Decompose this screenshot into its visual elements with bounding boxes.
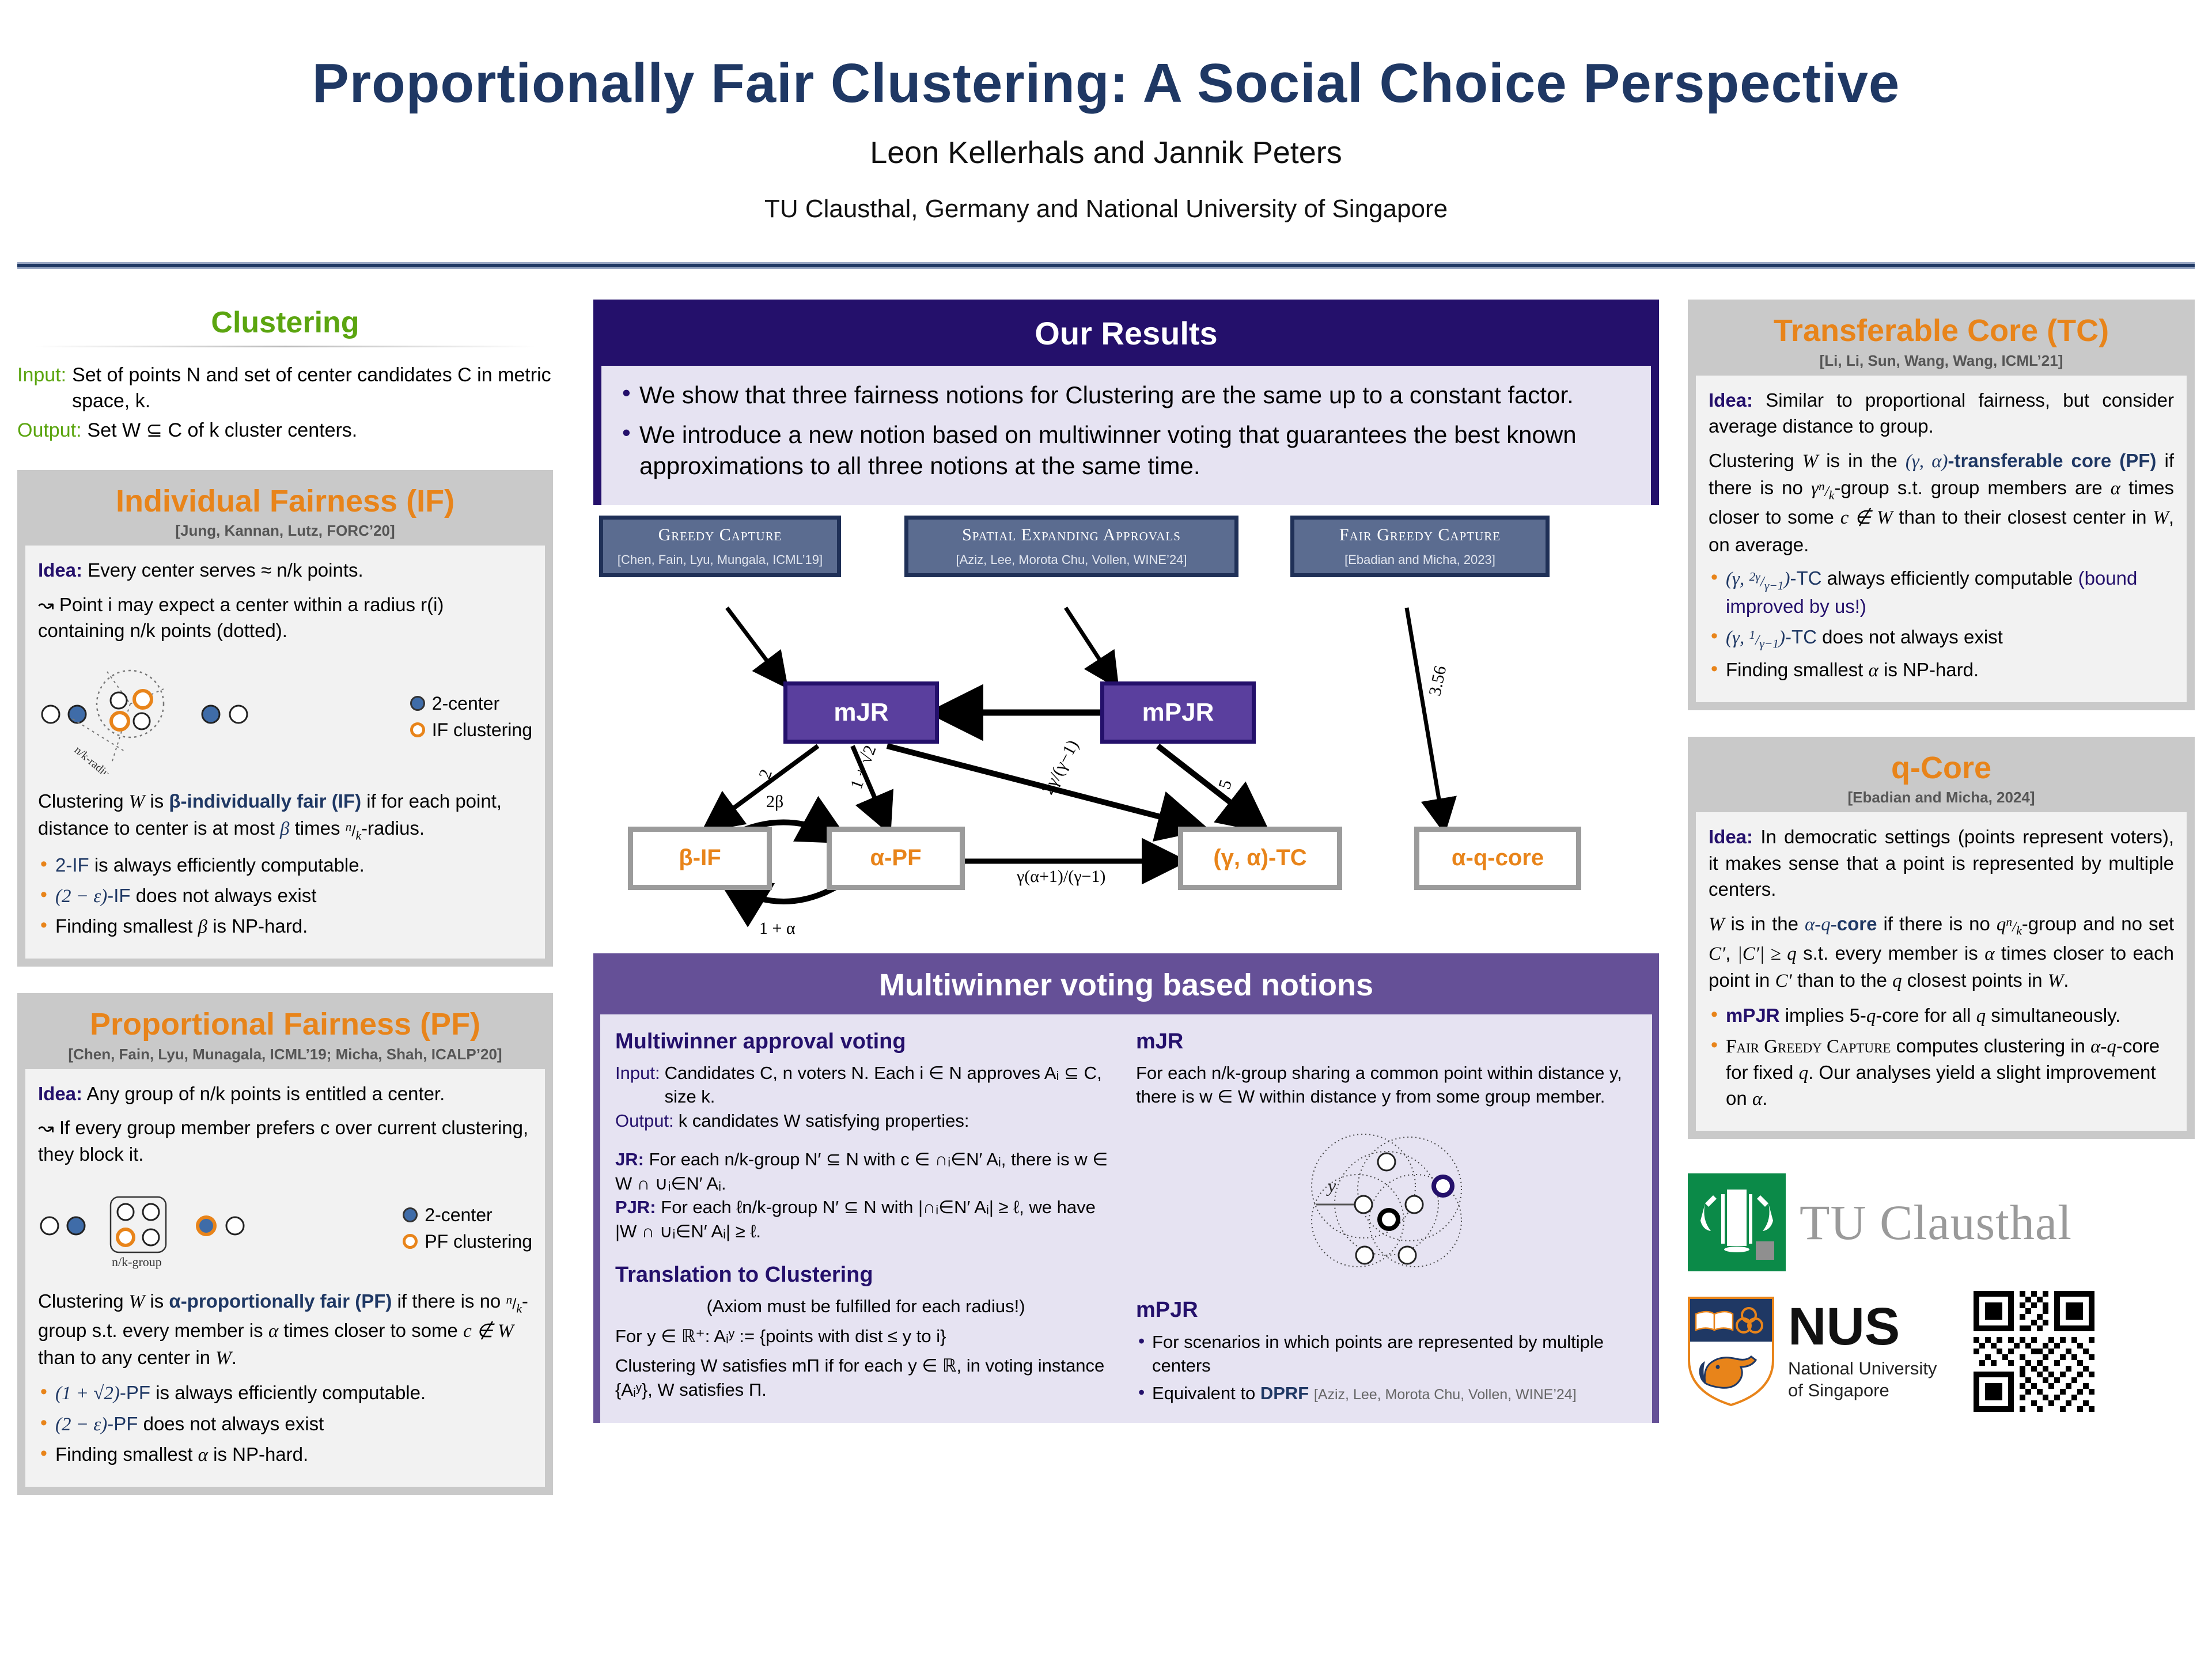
list-item: (1 + √2)-PF is always efficiently comput…	[38, 1380, 532, 1407]
relations-diagram: Greedy Capture [Chen, Fain, Lyu, Mungala…	[593, 516, 1659, 942]
jr-label: JR:	[615, 1149, 644, 1169]
clustering-output-row: Output: Set W ⊆ C of k cluster centers.	[17, 418, 553, 444]
clustering-section: Clustering Input: Set of points N and se…	[17, 300, 553, 444]
pf-citation: [Chen, Fain, Lyu, Munagala, ICML’19; Mic…	[29, 1041, 541, 1063]
nus-line1: National University	[1788, 1358, 1937, 1379]
if-title: Individual Fairness (IF)	[29, 485, 541, 518]
results-body: We show that three fairness notions for …	[601, 366, 1651, 505]
input-value: Set of points N and set of center candid…	[72, 362, 553, 414]
right-column: Transferable Core (TC) [Li, Li, Sun, Wan…	[1688, 300, 2195, 1431]
clustering-title: Clustering	[17, 300, 553, 343]
multiwinner-panel: Multiwinner voting based notions Multiwi…	[593, 953, 1659, 1423]
pf-definition: Clustering W is α-proportionally fair (P…	[38, 1288, 532, 1372]
tc-bullets: (γ, 2γ/γ−1)-TC always efficiently comput…	[1709, 566, 2174, 683]
algorithm-name: Greedy Capture	[610, 525, 830, 544]
if-idea-label: Idea:	[38, 559, 82, 581]
list-item: Fair Greedy Capture computes clustering …	[1709, 1033, 2174, 1112]
if-legend: 2-center IF clustering	[410, 690, 532, 744]
our-results-panel: Our Results We show that three fairness …	[593, 300, 1659, 505]
list-item: We show that three fairness notions for …	[618, 380, 1635, 411]
nus-shield-icon	[1688, 1297, 1774, 1406]
nus-logo: NUS National University of Singapore	[1688, 1291, 2195, 1412]
mjr-distance-label: y	[1326, 1175, 1336, 1196]
node-alpha-q-core: α-q-core	[1414, 827, 1581, 890]
edge-label-pf-to-if: 1 + α	[759, 919, 796, 938]
left-column: Clustering Input: Set of points N and se…	[17, 300, 553, 1495]
jr-text: For each n/k-group N′ ⊆ N with c ∈ ∩ᵢ∈N′…	[615, 1149, 1108, 1194]
tc-card-header: Transferable Core (TC) [Li, Li, Sun, Wan…	[1696, 308, 2187, 376]
if-idea-line2: ↝ Point i may expect a center within a r…	[38, 592, 532, 644]
translation-note: (Axiom must be fulfilled for each radius…	[615, 1294, 1116, 1319]
qcore-idea-text: In democratic settings (points represent…	[1709, 826, 2174, 900]
node-gamma-alpha-tc: (γ, α)-TC	[1178, 827, 1342, 890]
mjr-text: For each n/k-group sharing a common poin…	[1136, 1061, 1637, 1109]
mpjr-heading: mPJR	[1136, 1296, 1637, 1325]
clustering-divider	[35, 346, 536, 347]
qr-code-icon[interactable]	[1974, 1291, 2094, 1412]
list-item: Equivalent to DPRF [Aziz, Lee, Morota Ch…	[1136, 1382, 1637, 1406]
tc-idea-label: Idea:	[1709, 389, 1753, 411]
output-label: Output:	[17, 418, 88, 444]
pf-bullets: (1 + √2)-PF is always efficiently comput…	[38, 1380, 532, 1468]
input-label: Input:	[17, 362, 72, 414]
list-item: For scenarios in which points are repres…	[1136, 1331, 1637, 1378]
pjr-text: For each ℓn/k-group N′ ⊆ N with |∩ᵢ∈N′ A…	[615, 1197, 1096, 1241]
approval-input-row: Input: Candidates C, n voters N. Each i …	[615, 1061, 1116, 1109]
dprf-label: DPRF	[1260, 1383, 1309, 1403]
nus-line2: of Singapore	[1788, 1380, 1937, 1401]
if-radius-label: n/k-radius	[72, 744, 116, 774]
pf-legend: 2-center PF clustering	[403, 1202, 532, 1255]
clustering-input-row: Input: Set of points N and set of center…	[17, 362, 553, 414]
tu-clausthal-crest-icon	[1688, 1173, 1786, 1271]
pf-figure-row: n/k-group 2-center PF clustering	[38, 1182, 532, 1274]
orange-ring-icon	[410, 722, 425, 737]
if-card-body: Idea: Every center serves ≈ n/k points. …	[25, 546, 545, 959]
legend-item-if: IF clustering	[410, 717, 532, 743]
pf-idea: Idea: Any group of n/k points is entitle…	[38, 1081, 532, 1107]
pf-idea-text: Any group of n/k points is entitled a ce…	[86, 1083, 445, 1104]
if-idea: Idea: Every center serves ≈ n/k points.	[38, 557, 532, 584]
header-divider	[17, 262, 2195, 269]
if-citation: [Jung, Kannan, Lutz, FORC’20]	[29, 517, 541, 540]
orange-ring-icon	[403, 1234, 418, 1249]
if-definition: Clustering W is β-individually fair (IF)…	[38, 788, 532, 844]
tu-clausthal-logo: TU Clausthal	[1688, 1173, 2195, 1271]
translation-heading: Translation to Clustering	[615, 1260, 1116, 1290]
legend-label-1: PF clustering	[425, 1228, 532, 1255]
algorithm-citation: [Ebadian and Micha, 2023]	[1301, 544, 1539, 567]
affiliation: TU Clausthal, Germany and National Unive…	[0, 171, 2212, 224]
pf-group-label: n/k-group	[112, 1255, 162, 1269]
multiwinner-body: Multiwinner approval voting Input: Candi…	[600, 1014, 1652, 1423]
node-alpha-pf: α-PF	[827, 827, 965, 890]
qcore-idea: Idea: In democratic settings (points rep…	[1709, 824, 2174, 903]
pf-idea-line2: ↝ If every group member prefers c over c…	[38, 1115, 532, 1167]
pf-title: Proportional Fairness (PF)	[29, 1008, 541, 1041]
pf-card-body: Idea: Any group of n/k points is entitle…	[25, 1069, 545, 1487]
node-mpjr: mPJR	[1100, 681, 1256, 744]
if-bullets: 2-IF is always efficiently computable. (…	[38, 853, 532, 940]
mjr-figure-wrap: y	[1136, 1117, 1637, 1290]
legend-item-2center: 2-center	[410, 690, 532, 717]
page-title: Proportionally Fair Clustering: A Social…	[0, 0, 2212, 113]
legend-item-pf: PF clustering	[403, 1228, 532, 1255]
output-value: Set W ⊆ C of k cluster centers.	[88, 418, 553, 444]
list-item: Finding smallest α is NP-hard.	[38, 1442, 532, 1468]
qcore-citation: [Ebadian and Micha, 2024]	[1699, 784, 2183, 806]
if-idea-text: Every center serves ≈ n/k points.	[88, 559, 363, 581]
tc-idea: Idea: Similar to proportional fairness, …	[1709, 387, 2174, 440]
nus-acronym: NUS	[1788, 1302, 1937, 1352]
qcore-definition: W is in the α-q-core if there is no qn/k…	[1709, 911, 2174, 995]
proportional-fairness-card: Proportional Fairness (PF) [Chen, Fain, …	[17, 993, 553, 1495]
poster-header: Proportionally Fair Clustering: A Social…	[0, 0, 2212, 271]
filled-blue-dot-icon	[403, 1207, 418, 1222]
approval-output-row: Output: k candidates W satisfying proper…	[615, 1109, 1116, 1133]
list-item: (γ, 1/γ−1)-TC does not always exist	[1709, 624, 2174, 653]
qcore-card-header: q-Core [Ebadian and Micha, 2024]	[1696, 745, 2187, 813]
jr-row: JR: For each n/k-group N′ ⊆ N with c ∈ ∩…	[615, 1147, 1116, 1195]
tc-title: Transferable Core (TC)	[1699, 315, 2183, 347]
pf-diagram: n/k-group	[38, 1182, 286, 1274]
transferable-core-card: Transferable Core (TC) [Li, Li, Sun, Wan…	[1688, 300, 2195, 710]
logos-section: TU Clausthal NUS	[1688, 1173, 2195, 1412]
node-beta-if: β-IF	[628, 827, 772, 890]
algorithm-box-fair-greedy-capture: Fair Greedy Capture [Ebadian and Micha, …	[1290, 516, 1550, 577]
mjr-heading: mJR	[1136, 1027, 1637, 1056]
approval-input-value: Candidates C, n voters N. Each i ∈ N app…	[665, 1061, 1116, 1109]
approval-heading: Multiwinner approval voting	[615, 1027, 1116, 1056]
tc-definition: Clustering W is in the (γ, α)-transferab…	[1709, 448, 2174, 558]
if-card-header: Individual Fairness (IF) [Jung, Kannan, …	[25, 478, 545, 546]
legend-label-1: IF clustering	[432, 717, 532, 743]
crest-svg	[1688, 1173, 1786, 1271]
tc-idea-text: Similar to proportional fairness, but co…	[1709, 389, 2174, 437]
multiwinner-title: Multiwinner voting based notions	[593, 953, 1659, 1014]
center-column: Our Results We show that three fairness …	[593, 300, 1659, 1430]
algorithm-name: Spatial Expanding Approvals	[915, 525, 1228, 544]
author-list: Leon Kellerhals and Jannik Peters	[0, 113, 2212, 171]
algorithm-box-greedy-capture: Greedy Capture [Chen, Fain, Lyu, Mungala…	[599, 516, 841, 577]
list-item: Finding smallest β is NP-hard.	[38, 914, 532, 940]
list-item: Finding smallest α is NP-hard.	[1709, 657, 2174, 684]
algorithm-citation: [Aziz, Lee, Morota Chu, Vollen, WINE’24]	[915, 544, 1228, 567]
list-item: (2 − ε)-IF does not always exist	[38, 883, 532, 910]
mpjr-bullets: For scenarios in which points are repres…	[1136, 1331, 1637, 1406]
approval-output-value: k candidates W satisfying properties:	[679, 1109, 969, 1133]
list-item: We introduce a new notion based on multi…	[618, 419, 1635, 482]
node-mjr: mJR	[783, 681, 939, 744]
pf-idea-label: Idea:	[38, 1083, 82, 1104]
pf-card-header: Proportional Fairness (PF) [Chen, Fain, …	[25, 1001, 545, 1069]
tc-card-body: Idea: Similar to proportional fairness, …	[1696, 376, 2187, 702]
list-item: mPJR implies 5-q-core for all q simultan…	[1709, 1003, 2174, 1029]
individual-fairness-card: Individual Fairness (IF) [Jung, Kannan, …	[17, 470, 553, 967]
approval-output-label: Output:	[615, 1109, 679, 1133]
legend-label-0: 2-center	[432, 690, 499, 717]
translation-line1: For y ∈ ℝ⁺: Aᵢʸ := {points with dist ≤ y…	[615, 1324, 1116, 1349]
qcore-bullets: mPJR implies 5-q-core for all q simultan…	[1709, 1003, 2174, 1112]
list-item: (γ, 2γ/γ−1)-TC always efficiently comput…	[1709, 566, 2174, 620]
nus-wordmark: NUS National University of Singapore	[1788, 1302, 1937, 1401]
tu-clausthal-wordmark: TU Clausthal	[1800, 1194, 2072, 1251]
pjr-row: PJR: For each ℓn/k-group N′ ⊆ N with |∩ᵢ…	[615, 1195, 1116, 1243]
algorithm-name: Fair Greedy Capture	[1301, 525, 1539, 544]
algorithm-box-spatial-expanding-approvals: Spatial Expanding Approvals [Aziz, Lee, …	[904, 516, 1238, 577]
q-core-card: q-Core [Ebadian and Micha, 2024] Idea: I…	[1688, 737, 2195, 1139]
qcore-title: q-Core	[1699, 752, 2183, 785]
legend-label-0: 2-center	[425, 1202, 492, 1228]
algorithm-citation: [Chen, Fain, Lyu, Mungala, ICML’19]	[610, 544, 830, 567]
qcore-idea-label: Idea:	[1709, 826, 1753, 847]
approval-input-label: Input:	[615, 1061, 665, 1109]
if-diagram: n/k-radius	[38, 659, 286, 774]
translation-line2: Clustering W satisfies mΠ if for each y …	[615, 1354, 1116, 1402]
legend-item-2center: 2-center	[403, 1202, 532, 1228]
mjr-diagram: y	[1271, 1117, 1502, 1290]
list-item: (2 − ε)-PF does not always exist	[38, 1411, 532, 1438]
dprf-citation: [Aziz, Lee, Morota Chu, Vollen, WINE’24]	[1314, 1387, 1577, 1403]
multiwinner-left-col: Multiwinner approval voting Input: Candi…	[615, 1027, 1116, 1411]
filled-blue-dot-icon	[410, 696, 425, 711]
edge-label-if-to-pf: 2β	[766, 792, 783, 812]
tc-citation: [Li, Li, Sun, Wang, Wang, ICML’21]	[1699, 347, 2183, 370]
edge-label-pf-to-tc: γ(α+1)/(γ−1)	[1017, 867, 1105, 887]
list-item: 2-IF is always efficiently computable.	[38, 853, 532, 878]
multiwinner-right-col: mJR For each n/k-group sharing a common …	[1136, 1027, 1637, 1411]
pjr-label: PJR:	[615, 1197, 656, 1217]
if-figure-row: n/k-radius 2-center IF clustering	[38, 659, 532, 774]
results-title: Our Results	[593, 300, 1659, 366]
qcore-card-body: Idea: In democratic settings (points rep…	[1696, 812, 2187, 1131]
